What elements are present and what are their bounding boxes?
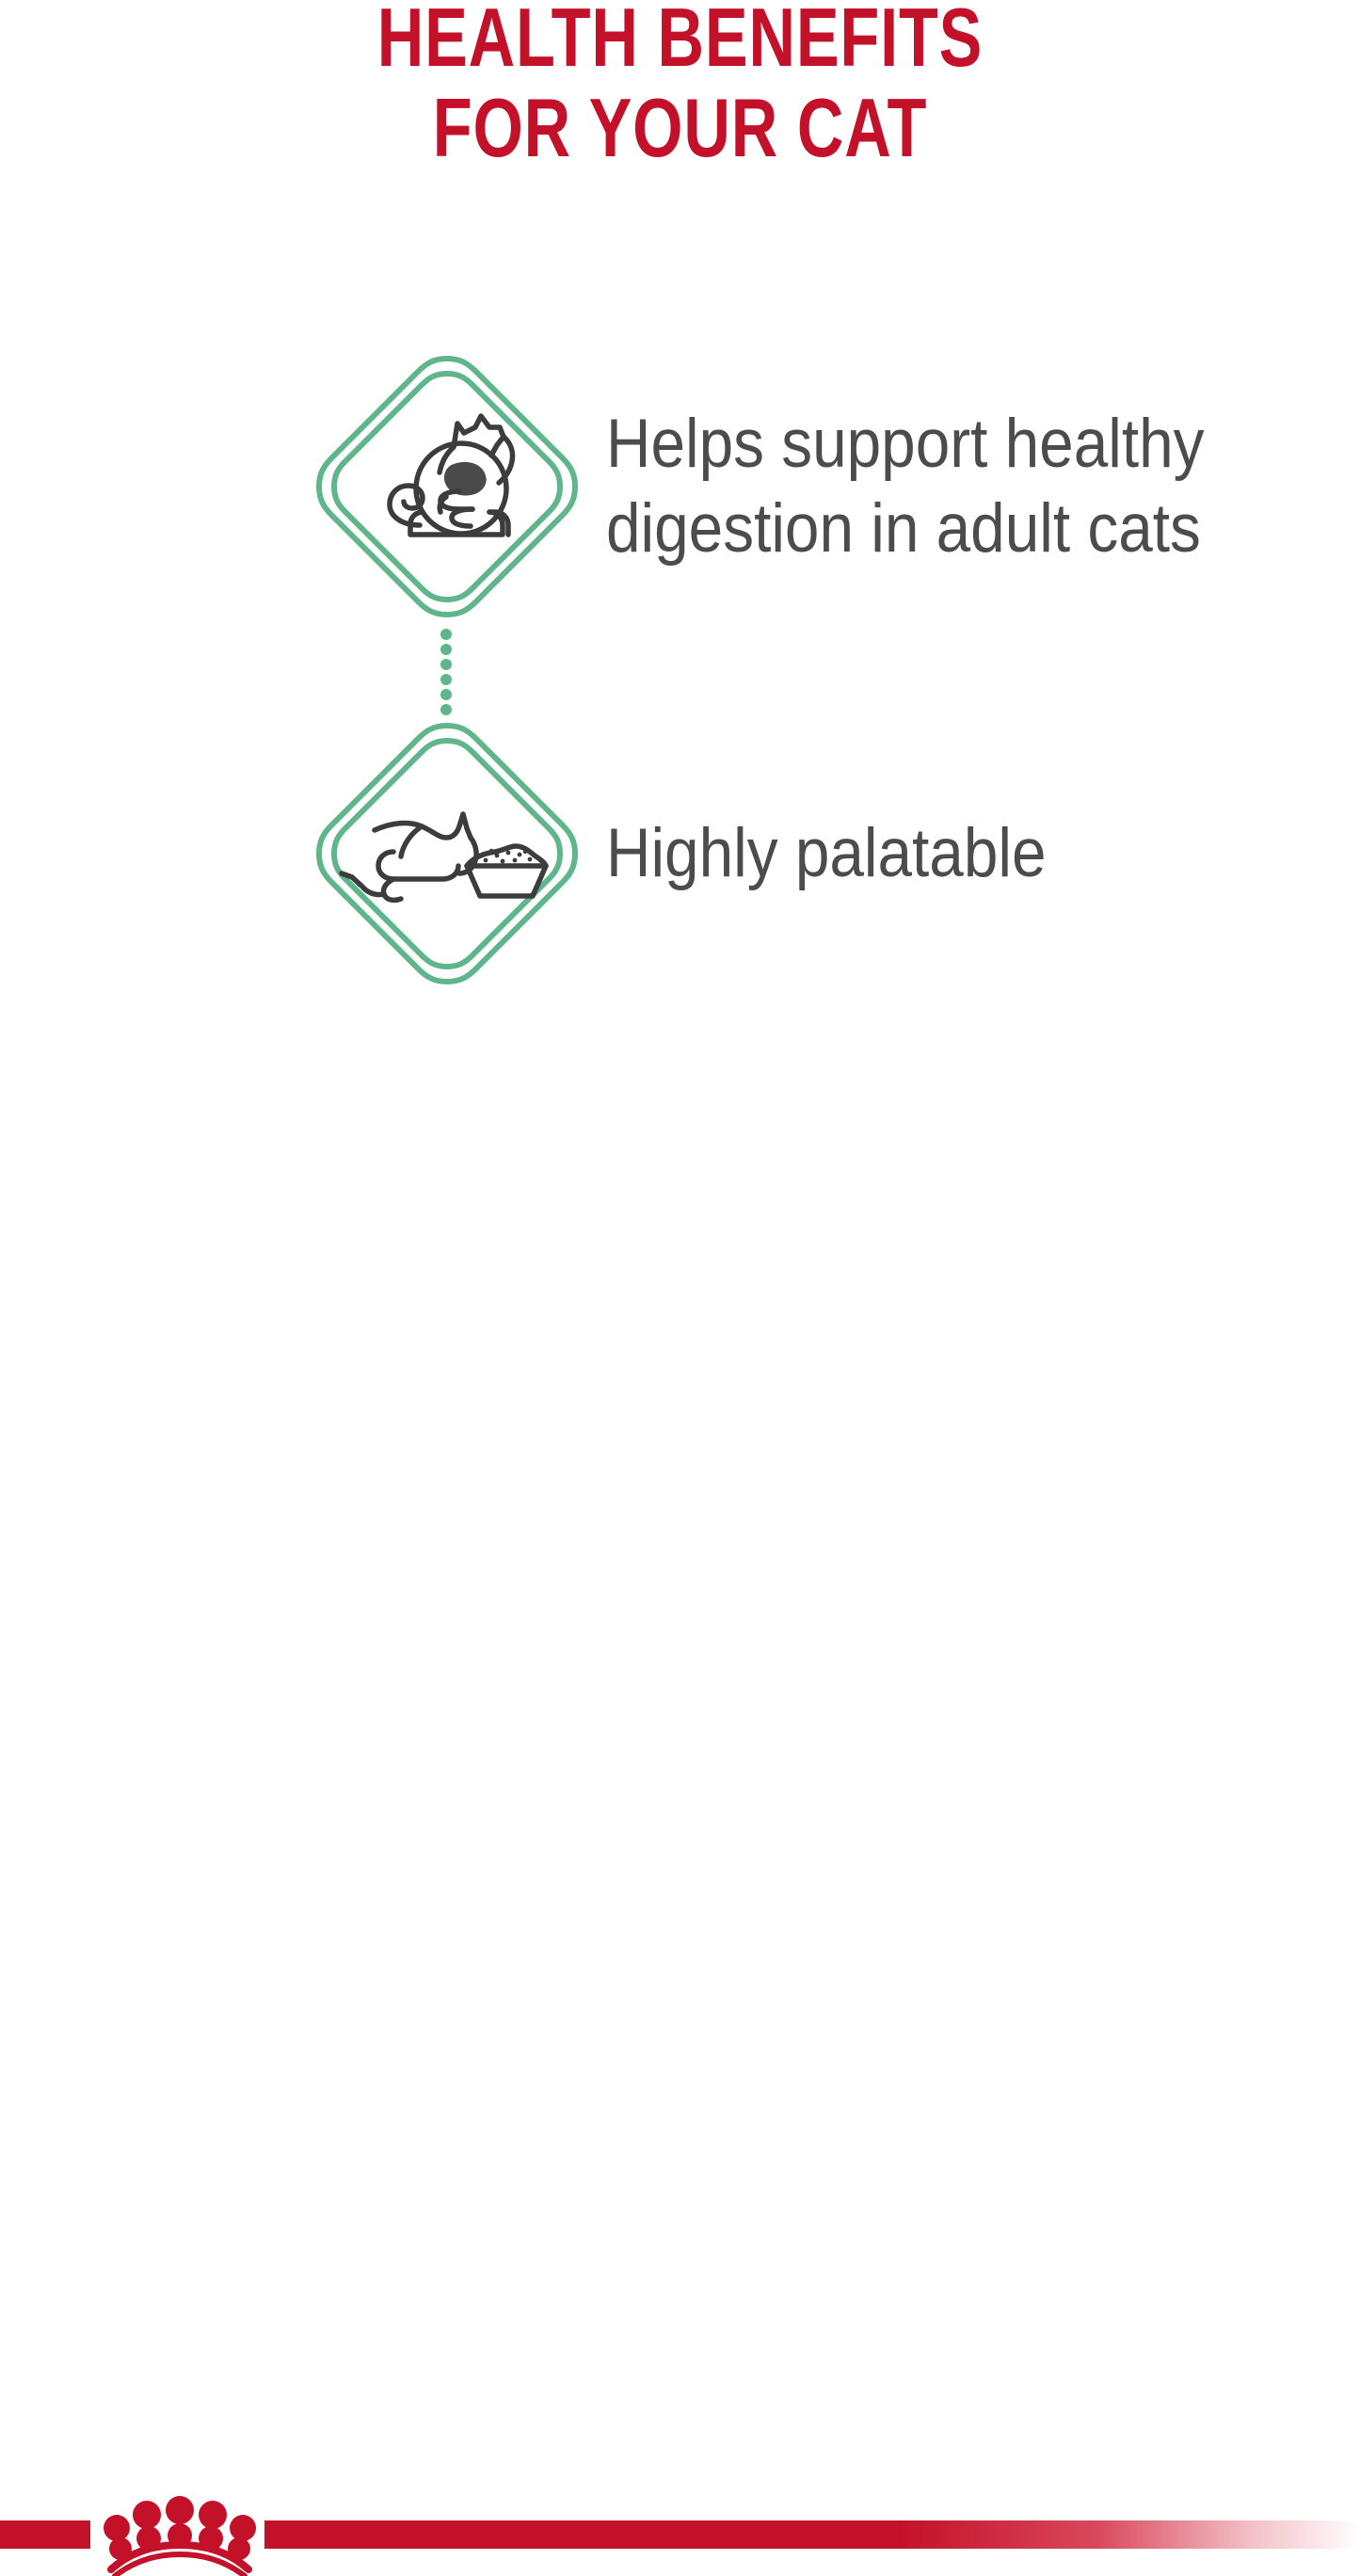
dotted-connector: [439, 629, 454, 715]
benefit-text: Helps support healthy digestion in adult…: [606, 402, 1255, 571]
connector-dot: [440, 659, 452, 670]
page-title-line-1: HEALTH BENEFITS: [150, 0, 1210, 83]
royal-canin-crown-logo: [90, 2490, 269, 2576]
page-title-line-2: FOR YOUR CAT: [150, 83, 1210, 173]
footer-logo-band: [0, 1242, 1360, 1334]
connector-dot: [440, 704, 452, 715]
cat-eating-from-bowl-icon: [311, 717, 584, 990]
connector-dot: [440, 629, 452, 640]
benefit-row: Highly palatable: [311, 717, 1327, 990]
page-title: HEALTH BENEFITS FOR YOUR CAT: [0, 0, 1360, 173]
footer-bar-right: [264, 2520, 1360, 2549]
cat-digestive-system-icon: [311, 350, 584, 623]
benefit-row: Helps support healthy digestion in adult…: [311, 350, 1327, 623]
connector-dot: [440, 689, 452, 700]
connector-dot: [440, 674, 452, 685]
connector-dot: [440, 644, 452, 655]
benefit-text: Highly palatable: [606, 811, 1047, 896]
footer-bar-left: [0, 2520, 90, 2549]
